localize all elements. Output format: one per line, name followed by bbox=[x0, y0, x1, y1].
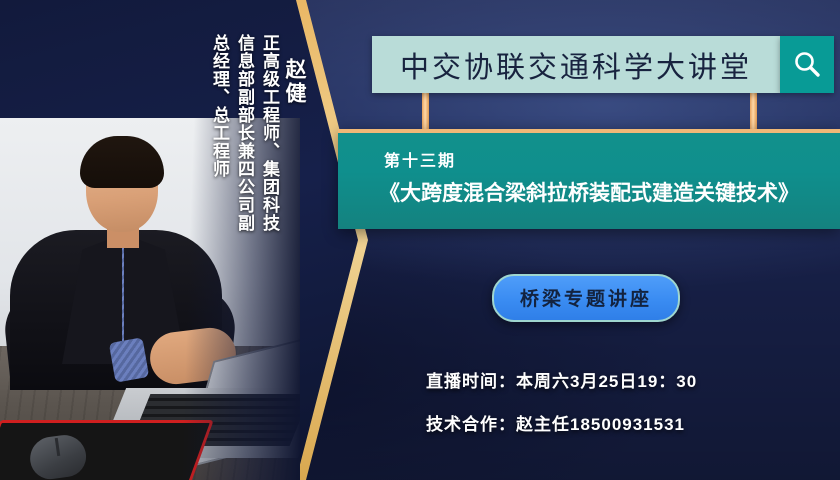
speaker-title-line-3: 总经理、总工程师 bbox=[207, 34, 232, 178]
speaker-name: 赵健 bbox=[279, 58, 309, 106]
lecture-title: 《大跨度混合梁斜拉桥装配式建造关键技术》 bbox=[346, 177, 832, 207]
page-title: 中交协联交通科学大讲堂 bbox=[400, 44, 752, 86]
search-icon bbox=[791, 49, 823, 81]
speaker-title-line-2: 信息部副部长兼四公司副 bbox=[232, 34, 257, 232]
issue-number: 第十三期 bbox=[384, 147, 456, 171]
topic-badge[interactable]: 桥梁专题讲座 bbox=[492, 274, 680, 322]
livestream-poster: 赵健 正高级工程师、集团科技 信息部副部长兼四公司副 总经理、总工程师 中交协联… bbox=[0, 0, 840, 480]
speaker-title-line-1: 正高级工程师、集团科技 bbox=[257, 34, 282, 232]
headline-bar: 中交协联交通科学大讲堂 bbox=[372, 36, 780, 93]
search-button[interactable] bbox=[780, 36, 834, 93]
signboard-post-right bbox=[750, 92, 757, 132]
broadcast-time-text: 直播时间：本周六3月25日19：30 bbox=[426, 367, 697, 392]
headline-signboard: 中交协联交通科学大讲堂 bbox=[372, 36, 834, 93]
lecture-info-panel: 第十三期 《大跨度混合梁斜拉桥装配式建造关键技术》 bbox=[338, 129, 840, 229]
technical-contact-text: 技术合作：赵主任18500931531 bbox=[426, 410, 685, 435]
signboard-post-left bbox=[422, 92, 429, 132]
